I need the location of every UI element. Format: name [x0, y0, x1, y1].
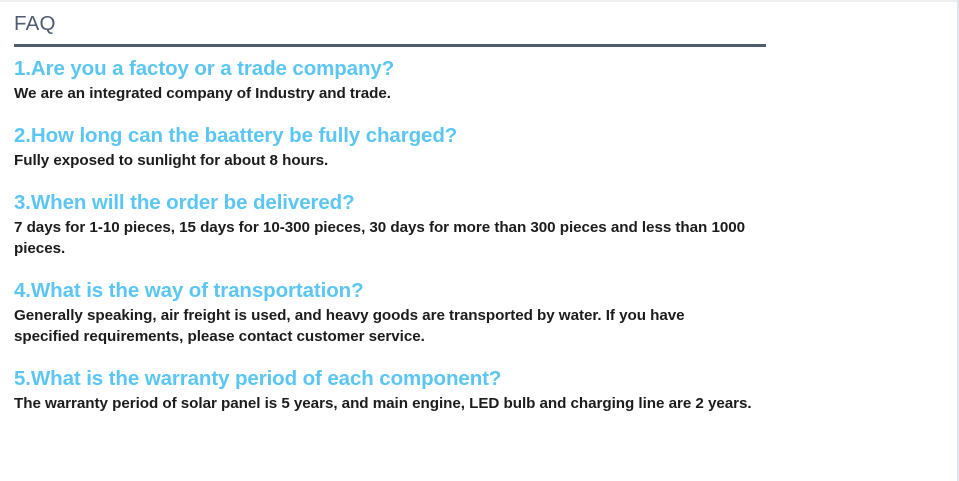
faq-item: 1.Are you a factoy or a trade company? W… — [14, 56, 957, 104]
faq-item: 2.How long can the baattery be fully cha… — [14, 123, 957, 171]
faq-question: 1.Are you a factoy or a trade company? — [14, 56, 957, 81]
faq-panel: FAQ 1.Are you a factoy or a trade compan… — [0, 0, 959, 481]
faq-header: FAQ — [0, 2, 957, 37]
title-underline-rule — [14, 44, 766, 47]
faq-item: 5.What is the warranty period of each co… — [14, 366, 957, 414]
faq-item: 4.What is the way of transportation? Gen… — [14, 278, 957, 347]
faq-answer: The warranty period of solar panel is 5 … — [14, 393, 752, 414]
page-title: FAQ — [14, 11, 957, 37]
faq-question: 4.What is the way of transportation? — [14, 278, 957, 303]
faq-answer: 7 days for 1-10 pieces, 15 days for 10-3… — [14, 217, 752, 259]
faq-answer: Fully exposed to sunlight for about 8 ho… — [14, 150, 752, 171]
faq-answer: Generally speaking, air freight is used,… — [14, 305, 752, 347]
faq-question: 5.What is the warranty period of each co… — [14, 366, 957, 391]
faq-list: 1.Are you a factoy or a trade company? W… — [0, 56, 957, 414]
faq-question: 3.When will the order be delivered? — [14, 190, 957, 215]
faq-item: 3.When will the order be delivered? 7 da… — [14, 190, 957, 259]
faq-question: 2.How long can the baattery be fully cha… — [14, 123, 957, 148]
faq-answer: We are an integrated company of Industry… — [14, 83, 752, 104]
